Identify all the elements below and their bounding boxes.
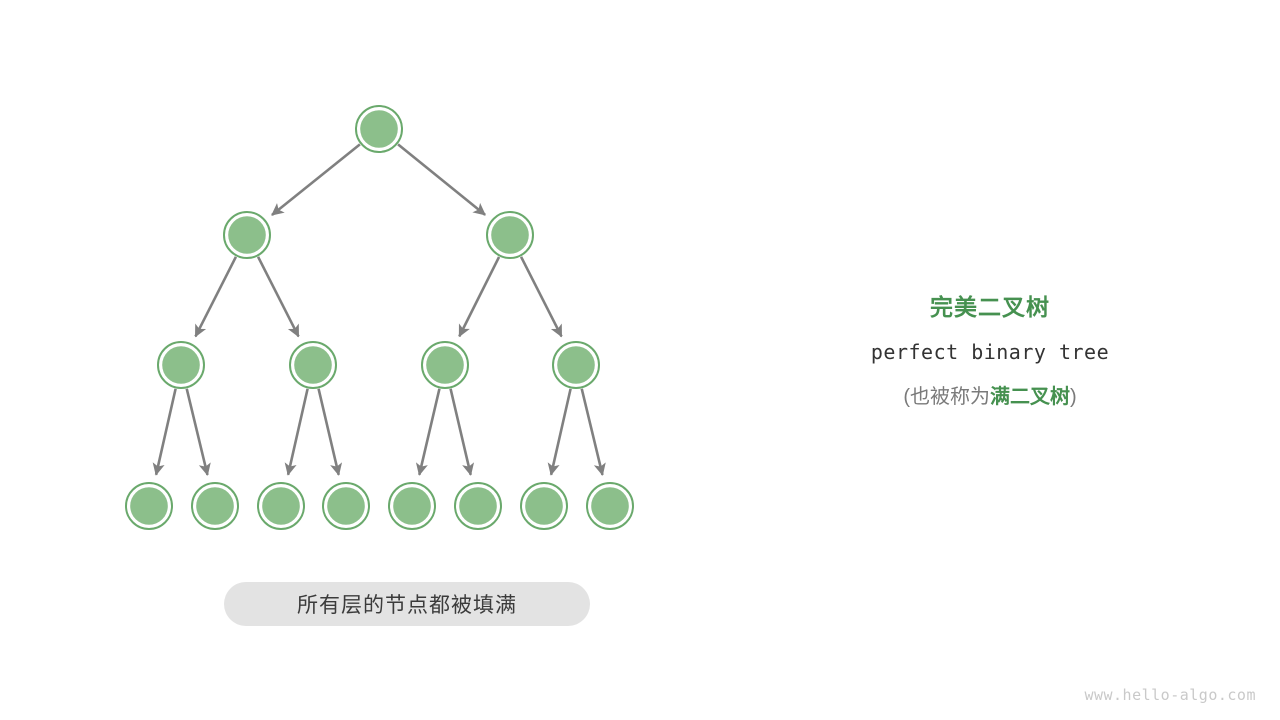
tree-node [158,342,204,388]
tree-node-fill [557,346,595,384]
tree-edge [195,257,235,337]
tree-edge [459,257,499,336]
tree-edge [582,389,603,475]
tree-node [224,212,270,258]
tree-node [487,212,533,258]
tree-node-fill [130,487,168,525]
tree-node-fill [360,110,398,148]
tree-node [258,483,304,529]
tree-edge [272,144,360,215]
tree-node-fill [327,487,365,525]
tree-node [356,106,402,152]
tree-node [126,483,172,529]
diagram-caption: 所有层的节点都被填满 [224,582,590,626]
alias-highlight-text: 满二叉树 [990,386,1070,408]
tree-edge [288,389,307,475]
tree-node-fill [228,216,266,254]
tree-edge [398,144,485,214]
tree-edge [551,389,570,475]
legend-alias-line: (也被称为满二叉树) [790,382,1190,412]
alias-prefix-text: (也被称为 [903,386,990,408]
tree-node-fill [426,346,464,384]
tree-edge-layer [156,144,602,475]
tree-node [422,342,468,388]
tree-node-fill [591,487,629,525]
tree-edge [156,389,175,475]
tree-edge [451,389,471,475]
tree-edge [419,389,439,475]
alias-suffix-text: ) [1070,386,1077,408]
tree-node [192,483,238,529]
tree-node [290,342,336,388]
legend-title-english: perfect binary tree [790,337,1190,367]
tree-node-fill [294,346,332,384]
tree-edge [187,389,208,475]
tree-edge [319,389,339,475]
legend-title-chinese: 完美二叉树 [790,292,1190,322]
tree-node-fill [491,216,529,254]
tree-node-fill [525,487,563,525]
tree-node-layer [126,106,633,529]
tree-node [521,483,567,529]
site-watermark: www.hello-algo.com [1084,686,1256,704]
tree-edge [521,257,561,337]
tree-node [587,483,633,529]
tree-node-fill [459,487,497,525]
tree-node-fill [262,487,300,525]
tree-node [455,483,501,529]
tree-edge [258,257,298,337]
tree-node [553,342,599,388]
tree-node [323,483,369,529]
tree-node-fill [393,487,431,525]
tree-node [389,483,435,529]
tree-node-fill [162,346,200,384]
legend-panel: 完美二叉树 perfect binary tree (也被称为满二叉树) [790,292,1190,412]
tree-node-fill [196,487,234,525]
